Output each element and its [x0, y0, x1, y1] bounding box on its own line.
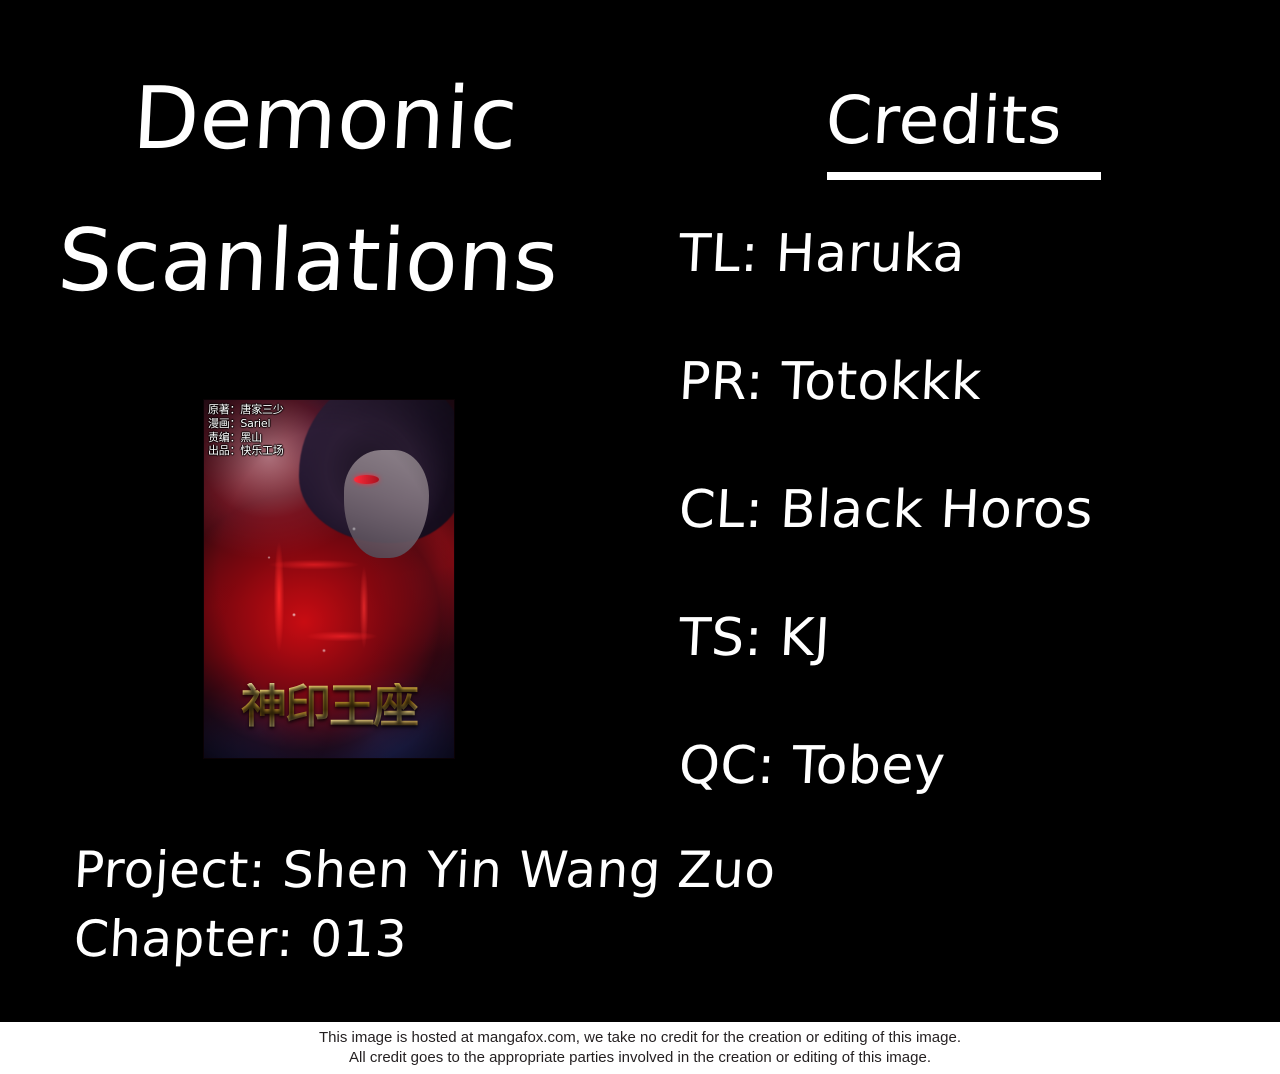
- credit-entry-tl: TL: Haruka: [678, 228, 967, 280]
- group-title-line-1: Demonic: [131, 76, 520, 162]
- footer-disclaimer: This image is hosted at mangafox.com, we…: [0, 1022, 1280, 1074]
- series-cover-thumbnail: 原著：唐家三少 漫画：Sariel 责编：黑山 出品：快乐工场 神印王座: [203, 399, 455, 759]
- credit-row: PR: Totokkk: [679, 356, 1239, 484]
- footer-line-2: All credit goes to the appropriate parti…: [349, 1048, 931, 1068]
- cover-title-logo: 神印王座: [214, 683, 444, 729]
- footer-line-1: This image is hosted at mangafox.com, we…: [319, 1028, 961, 1048]
- credits-panel: Demonic Scanlations Credits TL: Haruka P…: [0, 0, 1280, 1022]
- chapter-line: Chapter: 013: [72, 905, 777, 974]
- project-info: Project: Shen Yin Wang Zuo Chapter: 013: [74, 836, 776, 974]
- credits-heading-underline: [827, 172, 1101, 180]
- credits-page: Demonic Scanlations Credits TL: Haruka P…: [0, 0, 1280, 1074]
- credit-entry-ts: TS: KJ: [678, 612, 832, 664]
- credit-entry-pr: PR: Totokkk: [678, 356, 983, 408]
- credit-entry-qc: QC: Tobey: [678, 740, 947, 792]
- group-title-line-2: Scanlations: [56, 218, 561, 304]
- credits-heading: Credits: [824, 88, 1064, 154]
- credits-list: TL: Haruka PR: Totokkk CL: Black Horos T…: [679, 228, 1239, 868]
- cover-staff-credits: 原著：唐家三少 漫画：Sariel 责编：黑山 出品：快乐工场: [208, 403, 284, 458]
- credit-row: TL: Haruka: [679, 228, 1239, 356]
- credit-row: CL: Black Horos: [679, 484, 1239, 612]
- credit-entry-cl: CL: Black Horos: [678, 484, 1095, 536]
- credit-row: TS: KJ: [679, 612, 1239, 740]
- project-line: Project: Shen Yin Wang Zuo: [72, 836, 777, 905]
